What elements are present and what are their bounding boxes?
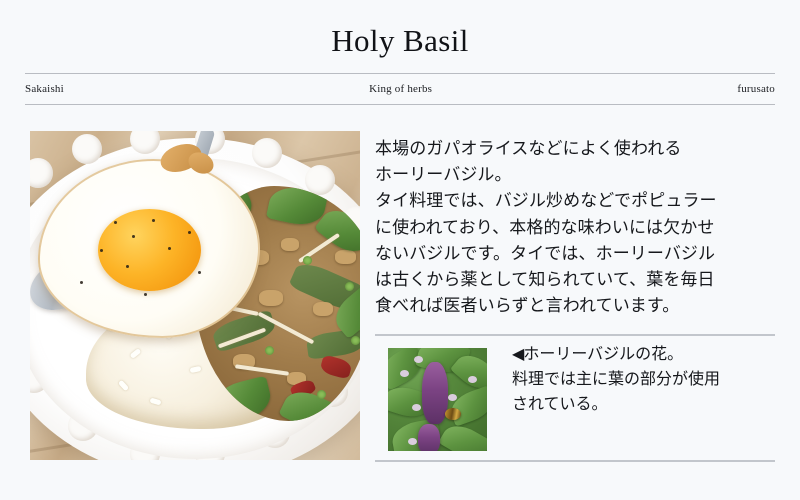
plate-scallop <box>72 134 102 164</box>
caption-text: ホーリーバジルの花。 <box>523 344 683 363</box>
body-line: 食べれば医者いらずと言われています。 <box>375 293 775 319</box>
hero-photo <box>30 131 360 460</box>
black-pepper-fleck <box>152 219 155 222</box>
basil-floret <box>468 376 477 383</box>
body-line: タイ料理では、バジル炒めなどでポピュラー <box>375 188 775 214</box>
figure-caption: ◀ホーリーバジルの花。 料理では主に葉の部分が使用 されている。 <box>512 341 777 416</box>
meta-tagline: King of herbs <box>64 83 737 95</box>
caption-line: 料理では主に葉の部分が使用 <box>512 366 777 391</box>
divider-top <box>375 334 775 336</box>
plate-scallop <box>130 131 160 154</box>
black-pepper-fleck <box>100 249 103 252</box>
caption-line: されている。 <box>512 391 777 416</box>
rice-grain <box>118 380 129 392</box>
black-pepper-fleck <box>144 293 147 296</box>
caption-line: ◀ホーリーバジルの花。 <box>512 341 777 366</box>
basil-floret <box>412 404 421 411</box>
plate-scallop <box>252 138 282 168</box>
meta-bar: Sakaishi King of herbs furusato <box>25 73 775 105</box>
left-arrow-icon: ◀ <box>512 344 523 363</box>
basil-floret <box>408 438 417 445</box>
body-line: ホーリーバジル。 <box>375 162 775 188</box>
bean-sprout <box>235 364 289 375</box>
black-pepper-fleck <box>188 231 191 234</box>
minced-meat <box>259 290 283 306</box>
hero-photo-scene <box>30 131 360 460</box>
black-pepper-fleck <box>168 247 171 250</box>
basil-floret <box>400 370 409 377</box>
scallion-slice <box>351 336 360 345</box>
black-pepper-fleck <box>114 221 117 224</box>
basil-floret <box>414 356 423 363</box>
article-body: 本場のガパオライスなどによく使われる ホーリーバジル。 タイ料理では、バジル炒め… <box>375 136 775 319</box>
rice-grain <box>190 366 202 373</box>
minced-meat <box>281 238 299 251</box>
black-pepper-fleck <box>126 265 129 268</box>
scallion-slice <box>317 390 326 399</box>
bee <box>445 408 461 420</box>
body-line: に使われており、本格的な味わいには欠かせ <box>375 215 775 241</box>
page-title: Holy Basil <box>0 0 800 60</box>
meta-source: furusato <box>737 83 775 95</box>
dried-chili <box>319 354 353 380</box>
rice-grain <box>130 348 142 359</box>
minced-meat <box>313 302 333 316</box>
meta-author: Sakaishi <box>25 83 64 95</box>
body-line: 本場のガパオライスなどによく使われる <box>375 136 775 162</box>
basil-flower-spike <box>418 424 440 451</box>
scallion-slice <box>265 346 274 355</box>
flower-thumbnail <box>388 348 487 451</box>
minced-meat <box>335 250 356 264</box>
rice-grain <box>150 398 162 406</box>
divider-bottom <box>375 460 775 462</box>
content-area: 本場のガパオライスなどによく使われる ホーリーバジル。 タイ料理では、バジル炒め… <box>0 131 800 500</box>
scallion-slice <box>303 256 312 265</box>
body-line: は古くから薬として知られていて、葉を毎日 <box>375 267 775 293</box>
black-pepper-fleck <box>198 271 201 274</box>
black-pepper-fleck <box>80 281 83 284</box>
basil-floret <box>448 394 457 401</box>
masthead: Holy Basil Sakaishi King of herbs furusa… <box>0 0 800 105</box>
body-line: ないバジルです。タイでは、ホーリーバジル <box>375 241 775 267</box>
black-pepper-fleck <box>132 235 135 238</box>
scallion-slice <box>345 282 354 291</box>
